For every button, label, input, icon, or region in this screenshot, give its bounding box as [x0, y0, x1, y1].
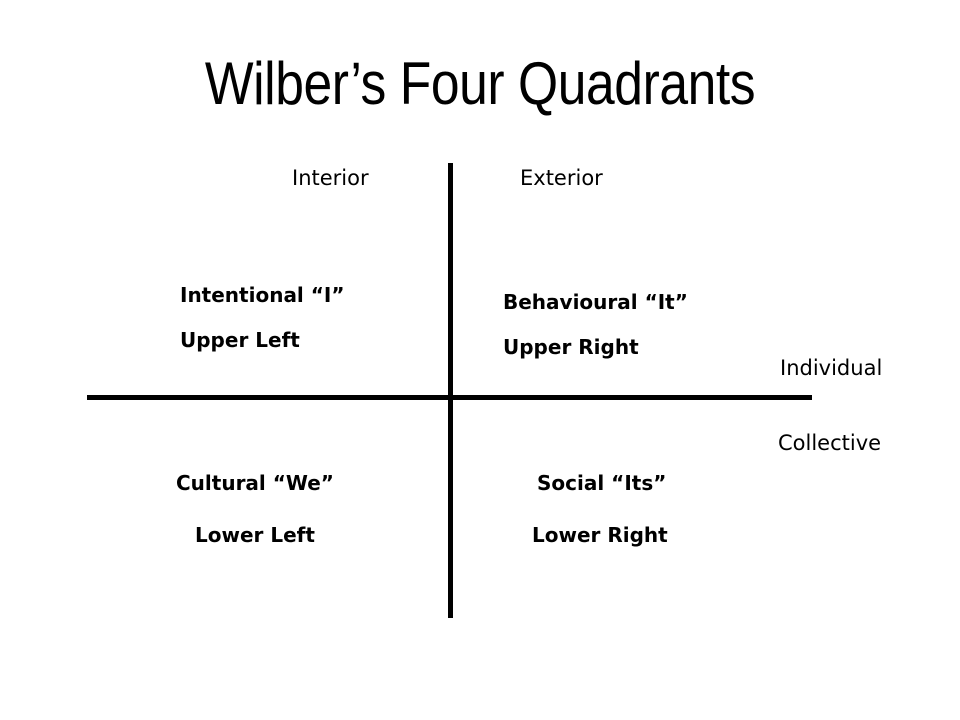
quadrant-label-lower-right-position: Lower Right: [532, 523, 668, 547]
axis-label-collective: Collective: [778, 431, 881, 455]
page-title: Wilber’s Four Quadrants: [67, 52, 893, 115]
axis-label-interior: Interior: [292, 166, 369, 190]
quadrant-label-upper-right-name: Behavioural “It”: [503, 290, 688, 314]
axis-label-exterior: Exterior: [520, 166, 603, 190]
quadrant-diagram-slide: Wilber’s Four Quadrants Interior Exterio…: [0, 0, 960, 720]
vertical-axis-line: [448, 163, 453, 618]
quadrant-label-upper-right-position: Upper Right: [503, 335, 639, 359]
axis-label-individual: Individual: [780, 356, 882, 380]
quadrant-label-lower-left-position: Lower Left: [195, 523, 315, 547]
quadrant-label-upper-left-name: Intentional “I”: [180, 283, 344, 307]
quadrant-label-lower-right-name: Social “Its”: [537, 471, 666, 495]
horizontal-axis-line: [87, 395, 812, 400]
quadrant-label-lower-left-name: Cultural “We”: [176, 471, 334, 495]
quadrant-label-upper-left-position: Upper Left: [180, 328, 300, 352]
